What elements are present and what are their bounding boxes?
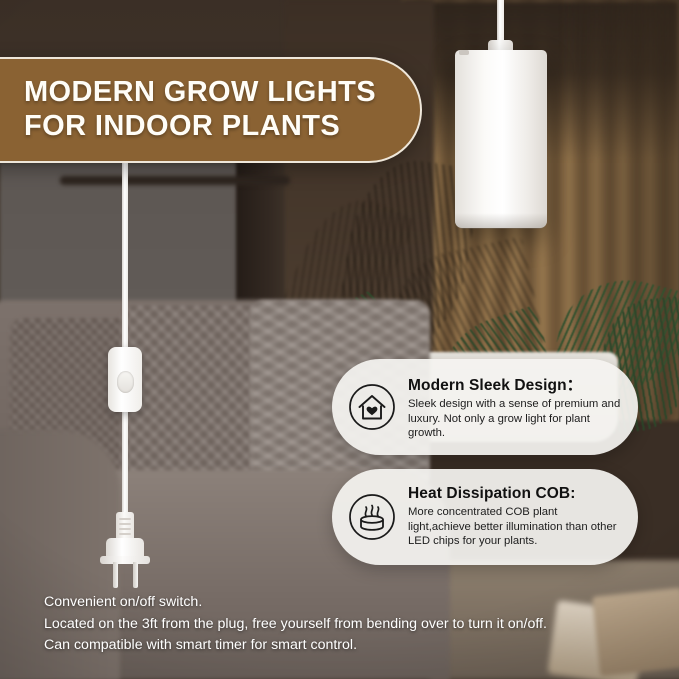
feature-card-heat-dissipation-cob: Heat Dissipation COB: More concentrated … bbox=[332, 469, 638, 565]
feature-title: Modern Sleek Design： bbox=[408, 373, 622, 395]
power-cord bbox=[122, 163, 128, 521]
bottom-caption: Convenient on/off switch. Located on the… bbox=[44, 592, 664, 657]
product-marketing-image: MODERN GROW LIGHTS FOR INDOOR PLANTS Mod… bbox=[0, 0, 679, 679]
pendant-bottom-lip bbox=[455, 213, 547, 229]
feature-card-modern-sleek-design: Modern Sleek Design： Sleek design with a… bbox=[332, 359, 638, 455]
heat-dissipation-icon bbox=[346, 491, 398, 543]
headline-line-1: MODERN GROW LIGHTS bbox=[24, 76, 420, 110]
plug-prong bbox=[113, 562, 118, 588]
feature-title: Heat Dissipation COB: bbox=[408, 485, 622, 503]
house-heart-icon bbox=[346, 381, 398, 433]
switch-rocker-button bbox=[117, 371, 134, 393]
plug-prong bbox=[133, 562, 138, 588]
feature-card-text: Heat Dissipation COB: More concentrated … bbox=[408, 485, 622, 550]
caption-line-1: Convenient on/off switch. bbox=[44, 592, 664, 614]
headline-line-2: FOR INDOOR PLANTS bbox=[24, 110, 420, 144]
feature-card-text: Modern Sleek Design： Sleek design with a… bbox=[408, 373, 622, 442]
headline-banner: MODERN GROW LIGHTS FOR INDOOR PLANTS bbox=[0, 57, 422, 163]
feature-description: More concentrated COB plant light,achiev… bbox=[408, 505, 622, 550]
pendant-top-notch bbox=[459, 50, 469, 55]
plug-flange bbox=[100, 556, 150, 564]
caption-line-3: Can compatible with smart timer for smar… bbox=[44, 635, 664, 657]
caption-line-2: Located on the 3ft from the plug, free y… bbox=[44, 614, 664, 636]
feature-description: Sleek design with a sense of premium and… bbox=[408, 397, 622, 442]
pendant-grow-light bbox=[455, 50, 547, 228]
